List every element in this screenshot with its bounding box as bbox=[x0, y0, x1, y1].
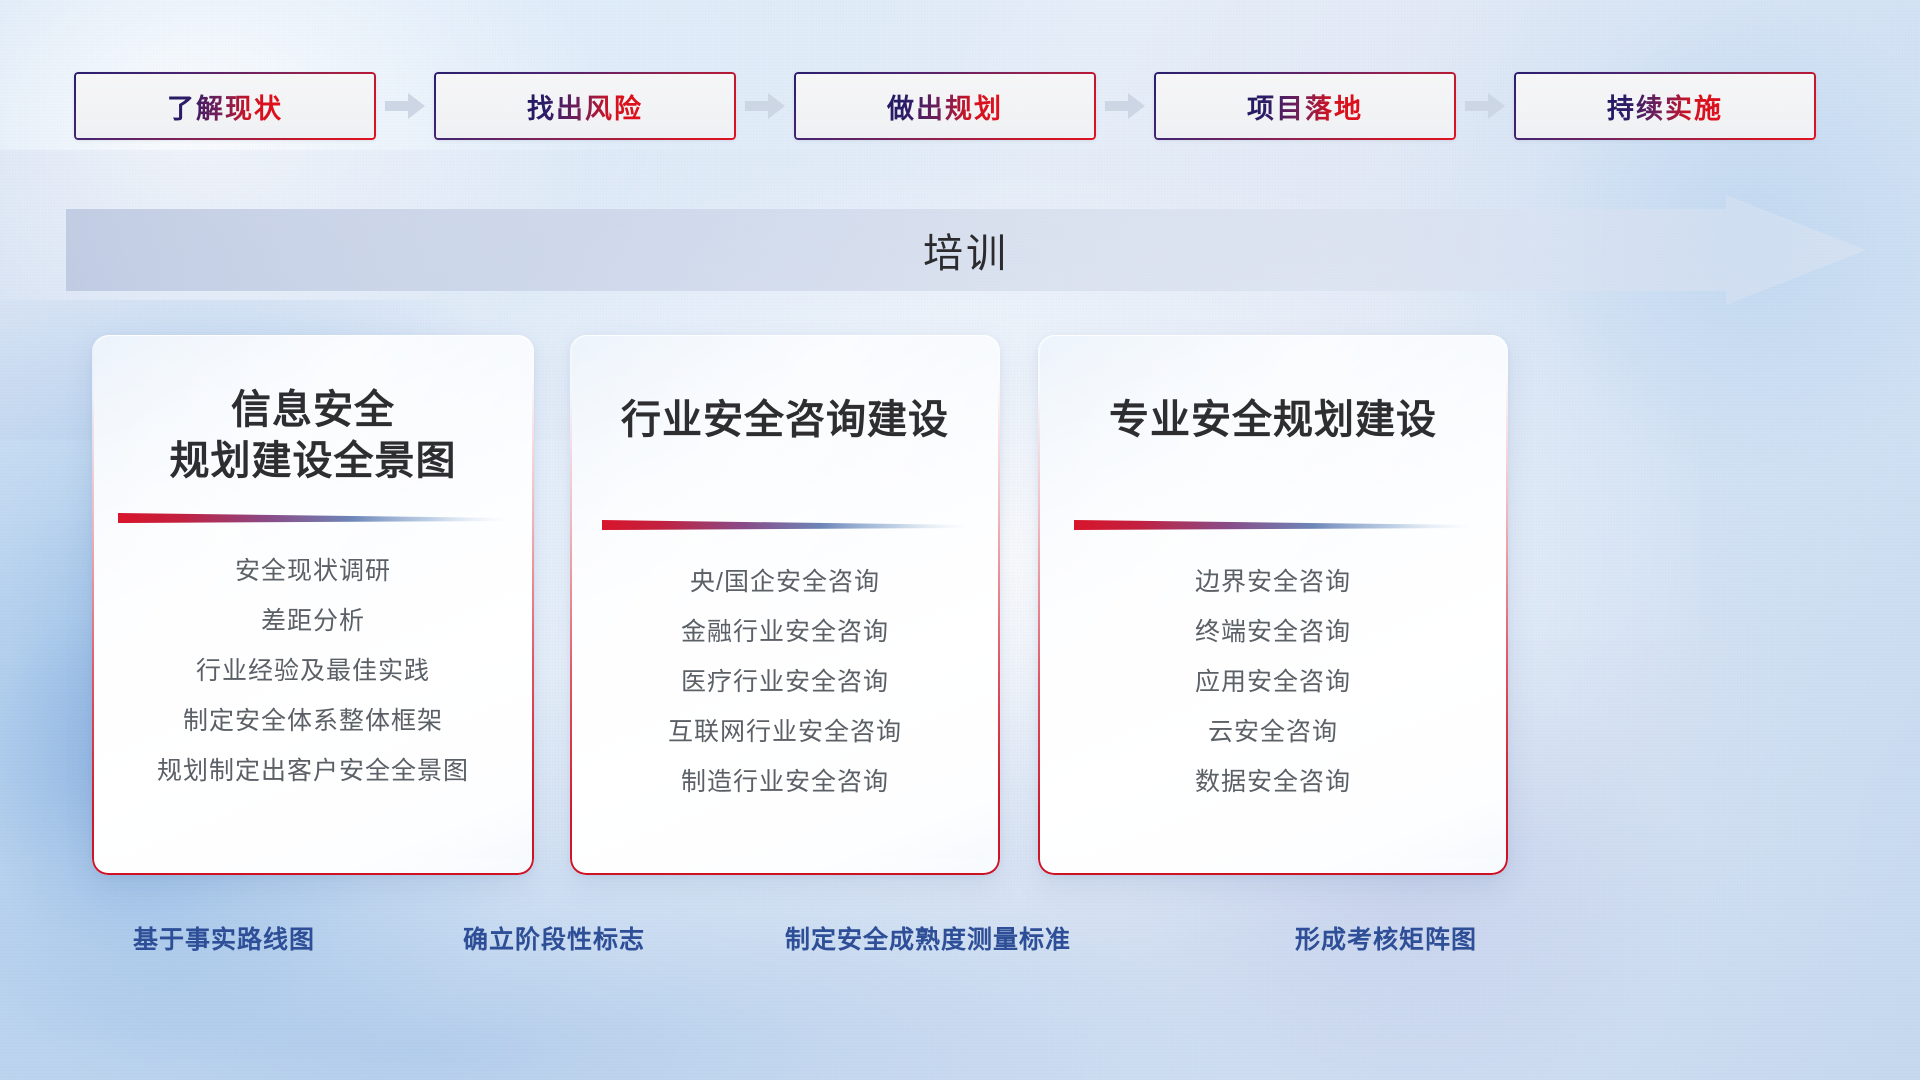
card-1-title: 信息安全 规划建设全景图 bbox=[170, 385, 457, 487]
training-band: 培训 bbox=[66, 195, 1866, 305]
list-item: 制定安全体系整体框架 bbox=[157, 709, 469, 734]
step-3[interactable]: 做出规划 bbox=[794, 72, 1096, 140]
list-item: 制造行业安全咨询 bbox=[668, 770, 902, 795]
card-2-divider bbox=[572, 516, 998, 534]
list-item: 差距分析 bbox=[157, 609, 469, 634]
step-box-4[interactable]: 项目落地 bbox=[1154, 72, 1456, 140]
list-item: 互联网行业安全咨询 bbox=[668, 720, 902, 745]
service-card-professional-security-planning[interactable]: 专业安全规划建设 bbox=[1038, 335, 1508, 875]
step-box-3[interactable]: 做出规划 bbox=[794, 72, 1096, 140]
arrow-right-icon bbox=[744, 91, 786, 121]
footnote-3: 制定安全成熟度测量标准 bbox=[785, 920, 1071, 956]
list-item: 应用安全咨询 bbox=[1195, 670, 1351, 695]
list-item: 规划制定出客户安全全景图 bbox=[157, 759, 469, 784]
card-1-item-list: 安全现状调研 差距分析 行业经验及最佳实践 制定安全体系整体框架 规划制定出客户… bbox=[157, 559, 469, 809]
step-label-1: 了解现状 bbox=[167, 87, 283, 126]
card-2-title: 行业安全咨询建设 bbox=[621, 395, 949, 446]
list-item: 终端安全咨询 bbox=[1195, 620, 1351, 645]
arrow-right-icon bbox=[1464, 91, 1506, 121]
step-label-2: 找出风险 bbox=[527, 87, 643, 126]
card-2-item-list: 央/国企安全咨询 金融行业安全咨询 医疗行业安全咨询 互联网行业安全咨询 制造行… bbox=[668, 570, 902, 820]
card-3-divider bbox=[1040, 516, 1506, 534]
step-label-4: 项目落地 bbox=[1247, 87, 1363, 126]
service-card-industry-security-consulting[interactable]: 行业安全咨询建设 bbox=[570, 335, 1000, 875]
footnote-row: 基于事实路线图 确立阶段性标志 制定安全成熟度测量标准 形成考核矩阵图 bbox=[0, 920, 1920, 980]
card-1-body: 信息安全 规划建设全景图 bbox=[94, 335, 532, 859]
list-item: 金融行业安全咨询 bbox=[668, 620, 902, 645]
list-item: 边界安全咨询 bbox=[1195, 570, 1351, 595]
arrow-right-icon bbox=[1104, 91, 1146, 121]
step-2[interactable]: 找出风险 bbox=[434, 72, 736, 140]
gradient-rule-icon bbox=[602, 516, 968, 534]
step-1[interactable]: 了解现状 bbox=[74, 72, 376, 140]
list-item: 行业经验及最佳实践 bbox=[157, 659, 469, 684]
footnote-1: 基于事实路线图 bbox=[133, 920, 315, 956]
step-label-5: 持续实施 bbox=[1607, 87, 1723, 126]
service-card-information-security-blueprint[interactable]: 信息安全 规划建设全景图 bbox=[92, 335, 534, 875]
list-item: 医疗行业安全咨询 bbox=[668, 670, 902, 695]
step-5[interactable]: 持续实施 bbox=[1514, 72, 1816, 140]
gradient-rule-icon bbox=[1074, 516, 1472, 534]
process-step-strip: 了解现状 找出风险 做出规划 项目落地 持续实施 bbox=[0, 66, 1920, 146]
step-box-5[interactable]: 持续实施 bbox=[1514, 72, 1816, 140]
card-2-body: 行业安全咨询建设 bbox=[572, 335, 998, 859]
step-4[interactable]: 项目落地 bbox=[1154, 72, 1456, 140]
card-3-item-list: 边界安全咨询 终端安全咨询 应用安全咨询 云安全咨询 数据安全咨询 bbox=[1195, 570, 1351, 820]
service-card-row: 信息安全 规划建设全景图 bbox=[0, 335, 1920, 875]
gradient-rule-icon bbox=[118, 509, 508, 527]
footnote-2: 确立阶段性标志 bbox=[463, 920, 645, 956]
list-item: 央/国企安全咨询 bbox=[668, 570, 902, 595]
card-3-body: 专业安全规划建设 bbox=[1040, 335, 1506, 859]
card-3-title: 专业安全规划建设 bbox=[1109, 395, 1437, 446]
step-box-1[interactable]: 了解现状 bbox=[74, 72, 376, 140]
list-item: 安全现状调研 bbox=[157, 559, 469, 584]
card-1-divider bbox=[94, 509, 532, 527]
footnote-4: 形成考核矩阵图 bbox=[1295, 920, 1477, 956]
training-band-label: 培训 bbox=[66, 195, 1866, 305]
list-item: 数据安全咨询 bbox=[1195, 770, 1351, 795]
step-label-3: 做出规划 bbox=[887, 87, 1003, 126]
step-box-2[interactable]: 找出风险 bbox=[434, 72, 736, 140]
list-item: 云安全咨询 bbox=[1195, 720, 1351, 745]
arrow-right-icon bbox=[384, 91, 426, 121]
